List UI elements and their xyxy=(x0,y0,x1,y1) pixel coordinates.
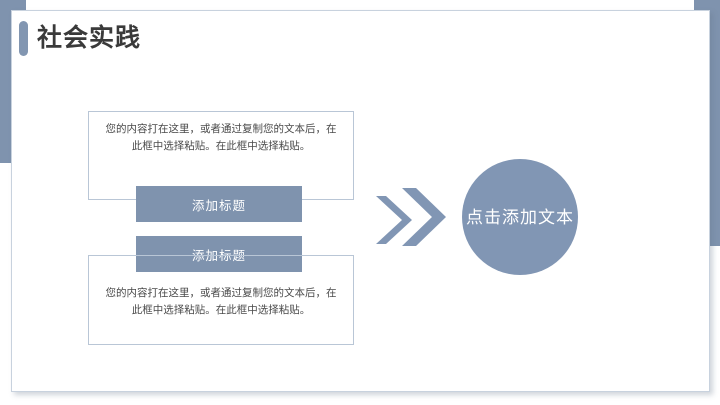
slide: 社会实践 您的内容打在这里，或者通过复制您的文本后，在此框中选择粘贴。在此框中选… xyxy=(0,0,720,405)
text-box-top-body: 您的内容打在这里，或者通过复制您的文本后，在此框中选择粘贴。在此框中选择粘贴。 xyxy=(105,121,337,155)
title-label: 社会实践 xyxy=(37,26,141,51)
double-chevron-right-icon xyxy=(376,184,446,250)
add-text-circle-label: 点击添加文本 xyxy=(466,206,574,229)
add-title-button-top[interactable]: 添加标题 xyxy=(136,186,302,222)
page-title: 社会实践 xyxy=(19,21,141,56)
add-title-button-top-label: 添加标题 xyxy=(192,195,246,214)
text-box-bottom-body: 您的内容打在这里，或者通过复制您的文本后，在此框中选择粘贴。在此框中选择粘贴。 xyxy=(105,285,337,319)
title-accent-bar xyxy=(19,21,28,56)
add-text-circle[interactable]: 点击添加文本 xyxy=(462,159,578,275)
